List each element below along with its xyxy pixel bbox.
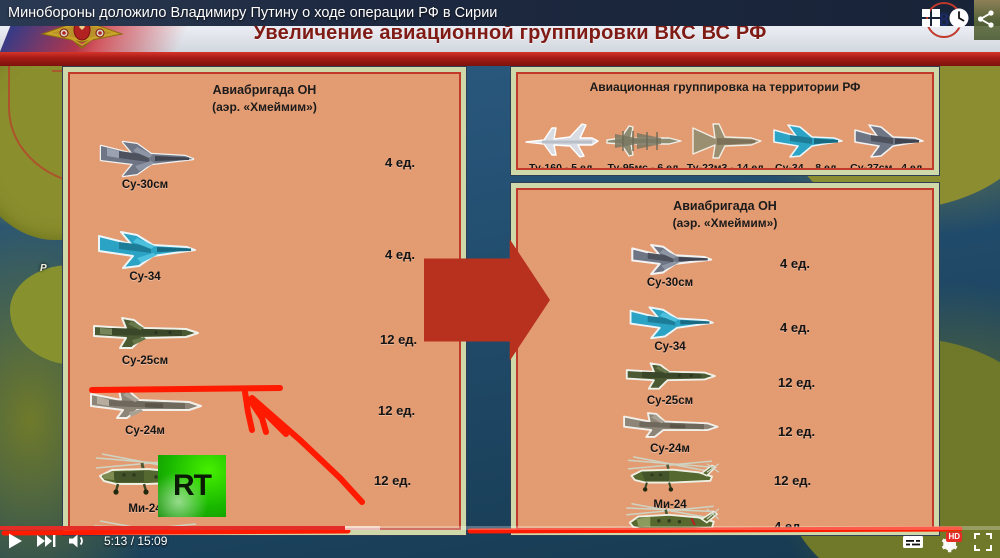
table-row: Ми-8 4 ед. xyxy=(618,496,918,530)
right-bottom-panel: Авиабригада ОН (аэр. «Хмеймим») Су-30см … xyxy=(510,182,940,536)
right-bottom-panel-subtitle: (аэр. «Хмеймим») xyxy=(518,215,932,231)
aircraft-count: 12 ед. xyxy=(380,332,417,347)
table-row: Ми-24 12 ед. xyxy=(80,446,455,515)
left-panel-subtitle: (аэр. «Хмеймим») xyxy=(70,99,459,115)
right-bottom-panel-heading: Авиабригада ОН (аэр. «Хмеймим») xyxy=(518,190,932,231)
broadcast-caption-text: Минобороны доложило Владимиру Путину о х… xyxy=(0,5,497,21)
aircraft-name: Су-25см xyxy=(122,355,168,367)
aircraft-count: 4 ед. xyxy=(780,256,810,271)
list-item: Су-27см –4 ед. xyxy=(848,118,929,170)
table-row: Су-30см 4 ед. xyxy=(618,238,918,289)
aircraft-name: Су-25см xyxy=(647,395,693,407)
broadcast-caption-bar: Минобороны доложило Владимиру Путину о х… xyxy=(0,0,1000,26)
aircraft-count: 12 ед. xyxy=(774,473,811,488)
table-row: Су-34 4 ед. xyxy=(618,302,918,353)
aircraft-name: Су-34 xyxy=(654,341,685,353)
settings-button[interactable]: HD xyxy=(938,532,960,552)
aircraft-count: 4 ед. xyxy=(385,247,415,262)
right-bottom-panel-title: Авиабригада ОН xyxy=(673,199,777,213)
aircraft-count: 12 ед. xyxy=(778,424,815,439)
table-row: Су-30см 4 ед. xyxy=(80,134,455,191)
player-top-overlay: 8 xyxy=(902,0,1000,40)
player-right-controls: HD xyxy=(902,532,992,552)
list-item-label: Ту-95мс - 6 ед. xyxy=(607,162,681,170)
aircraft-name: Су-30см xyxy=(122,179,168,191)
list-item-label: Су-27см –4 ед. xyxy=(850,162,925,170)
list-item-label: Ту-22м3 - 14 ед. xyxy=(687,162,767,170)
aircraft-cell: Ми-8 xyxy=(618,496,722,530)
watch-later-clock-icon[interactable] xyxy=(948,7,970,29)
table-row: Су-25см 12 ед. xyxy=(618,358,918,407)
play-button-icon[interactable] xyxy=(6,532,24,550)
aircraft-count: 12 ед. xyxy=(374,473,411,488)
tu-22m3-bomber-icon xyxy=(687,118,767,162)
right-top-panel-title: Авиационная группировка на территории РФ xyxy=(518,74,932,95)
su-25sm-jet-icon xyxy=(86,312,204,354)
su-30sm-jet-icon xyxy=(89,134,201,178)
aircraft-name: Су-30см xyxy=(647,277,693,289)
list-item: Ту-95мс - 6 ед. xyxy=(603,118,687,170)
list-item: Ту-22м3 - 14 ед. xyxy=(687,118,768,170)
list-item: Ту-160 - 5 ед. xyxy=(522,118,603,170)
quality-hd-badge: HD xyxy=(946,532,962,542)
aircraft-cell: Су-34 xyxy=(80,226,210,283)
left-panel-title: Авиабригада ОН xyxy=(213,83,317,97)
right-top-panel: Авиационная группировка на территории РФ… xyxy=(510,66,940,176)
aircraft-cell: Су-24м xyxy=(618,408,722,455)
rt-watermark-text: RT xyxy=(173,469,211,503)
tu-95ms-bomber-icon xyxy=(603,118,687,162)
su-27sm-jet-icon xyxy=(849,118,927,162)
share-icon[interactable] xyxy=(976,9,996,29)
aircraft-cell: Су-24м xyxy=(80,384,210,437)
su-25sm-jet-icon xyxy=(620,358,720,394)
table-row: Су-24м 12 ед. xyxy=(618,408,918,455)
video-player-stage: Р Увеличение авиационной группировки ВКС… xyxy=(0,0,1000,558)
subtitles-icon[interactable] xyxy=(902,534,924,550)
next-video-icon[interactable] xyxy=(36,533,56,549)
fullscreen-icon[interactable] xyxy=(974,533,992,551)
su-34-jet-icon xyxy=(89,226,201,270)
aircraft-cell: Су-30см xyxy=(618,238,722,289)
mi-8-helicopter-icon xyxy=(616,496,724,530)
aircraft-name: Су-34 xyxy=(129,271,160,283)
aircraft-count: 4 ед. xyxy=(780,320,810,335)
tu-160-bomber-icon xyxy=(522,118,602,162)
right-bottom-panel-inner: Авиабригада ОН (аэр. «Хмеймим») Су-30см … xyxy=(516,188,934,530)
strategic-aviation-strip: Ту-160 - 5 ед. Ту-95мс - xyxy=(518,96,932,170)
aircraft-count: 12 ед. xyxy=(778,375,815,390)
aircraft-cell: Су-30см xyxy=(80,134,210,191)
aircraft-count: 4 ед. xyxy=(385,155,415,170)
left-panel-inner: Авиабригада ОН (аэр. «Хмеймим») xyxy=(68,72,461,530)
progress-played xyxy=(0,526,345,530)
table-row: Су-25см 12 ед. xyxy=(80,312,455,367)
map-label: Р xyxy=(40,263,47,274)
su-34-jet-icon xyxy=(768,118,846,162)
su-24m-jet-icon xyxy=(85,384,205,424)
left-panel-heading: Авиабригада ОН (аэр. «Хмеймим») xyxy=(70,74,459,115)
aircraft-cell: Су-25см xyxy=(80,312,210,367)
aircraft-count: 12 ед. xyxy=(378,403,415,418)
list-item: Су-34 – 8 ед. xyxy=(767,118,848,170)
progress-scrubber[interactable] xyxy=(0,526,1000,530)
aircraft-name: Су-24м xyxy=(125,425,165,437)
table-row: Су-24м 12 ед. xyxy=(80,384,455,437)
list-item-label: Ту-160 - 5 ед. xyxy=(529,162,595,170)
su-34-jet-icon xyxy=(622,302,718,340)
list-item-label: Су-34 – 8 ед. xyxy=(775,162,839,170)
table-row: Су-34 4 ед. xyxy=(80,226,455,283)
rt-channel-watermark: RT xyxy=(158,455,226,517)
volume-icon[interactable] xyxy=(68,533,88,549)
grid-apps-icon[interactable] xyxy=(920,7,942,29)
left-panel: Авиабригада ОН (аэр. «Хмеймим») xyxy=(62,66,467,536)
mi-24-helicopter-icon xyxy=(616,450,724,498)
playback-time: 5:13 / 15:09 xyxy=(104,534,167,548)
aircraft-cell: Су-34 xyxy=(618,302,722,353)
right-top-panel-inner: Авиационная группировка на территории РФ… xyxy=(516,72,934,170)
player-control-bar: 5:13 / 15:09 HD xyxy=(0,526,1000,558)
player-left-controls: 5:13 / 15:09 xyxy=(6,532,167,550)
su-30sm-jet-icon xyxy=(622,238,718,276)
aircraft-cell: Су-25см xyxy=(618,358,722,407)
title-red-band xyxy=(0,52,1000,66)
su-24m-jet-icon xyxy=(619,408,721,442)
